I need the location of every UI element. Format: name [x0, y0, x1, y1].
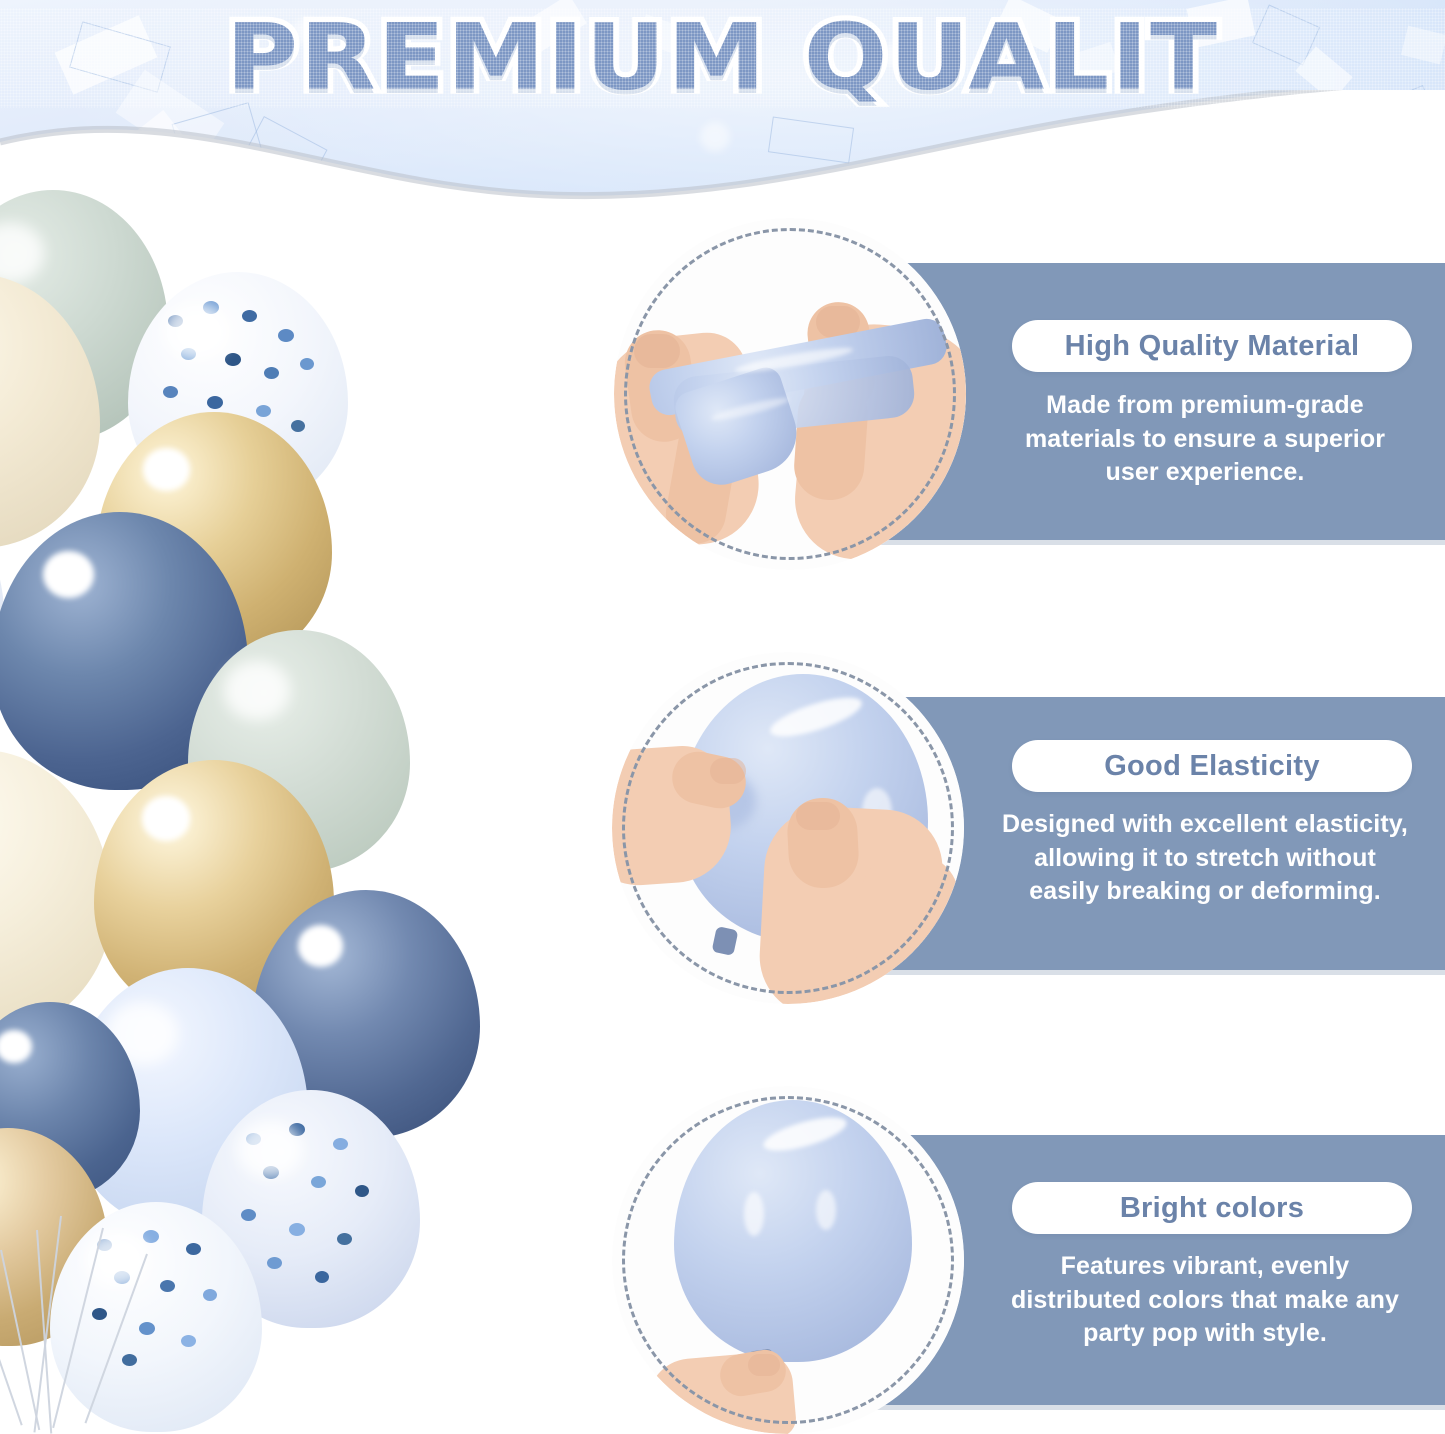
page-title: PREMIUM QUALIT: [226, 9, 1219, 107]
feature-2-description: Designed with excellent elasticity, allo…: [975, 808, 1435, 909]
feature-2-description-line: allowing it to stretch without: [975, 842, 1435, 876]
infographic-page: PREMIUM QUALIT: [0, 0, 1445, 1434]
feature-3-description: Features vibrant, evenly distributed col…: [975, 1250, 1435, 1351]
feature-1-description-line: materials to ensure a superior: [985, 423, 1425, 457]
feature-3-title-pill: Bright colors: [1012, 1182, 1412, 1234]
feature-2-photo-circle: [612, 652, 964, 1004]
feature-3-title: Bright colors: [1120, 1192, 1304, 1225]
feature-2-title-pill: Good Elasticity: [1012, 740, 1412, 792]
feature-2-description-line: easily breaking or deforming.: [975, 875, 1435, 909]
feature-panel-3-shadow: [845, 1405, 1445, 1410]
feature-3-description-line: party pop with style.: [975, 1317, 1435, 1351]
page-title-container: PREMIUM QUALIT: [0, 8, 1445, 108]
feature-3-photo-circle: [612, 1086, 964, 1434]
feature-1-description-line: Made from premium-grade: [985, 389, 1425, 423]
feature-3-description-line: distributed colors that make any: [975, 1284, 1435, 1318]
feature-2-dashed-ring: [622, 662, 954, 994]
feature-1-description: Made from premium-grade materials to ens…: [985, 389, 1425, 490]
feature-3-description-line: Features vibrant, evenly: [975, 1250, 1435, 1284]
feature-1-title: High Quality Material: [1065, 330, 1360, 363]
feature-3-dashed-ring: [622, 1096, 954, 1424]
balloon-cluster-photo: [0, 190, 550, 1434]
feature-1-description-line: user experience.: [985, 456, 1425, 490]
feature-1-dashed-ring: [624, 228, 956, 560]
feature-1-photo-circle: [614, 218, 966, 570]
feature-1-title-pill: High Quality Material: [1012, 320, 1412, 372]
feature-2-title: Good Elasticity: [1104, 750, 1320, 783]
feature-2-description-line: Designed with excellent elasticity,: [975, 808, 1435, 842]
